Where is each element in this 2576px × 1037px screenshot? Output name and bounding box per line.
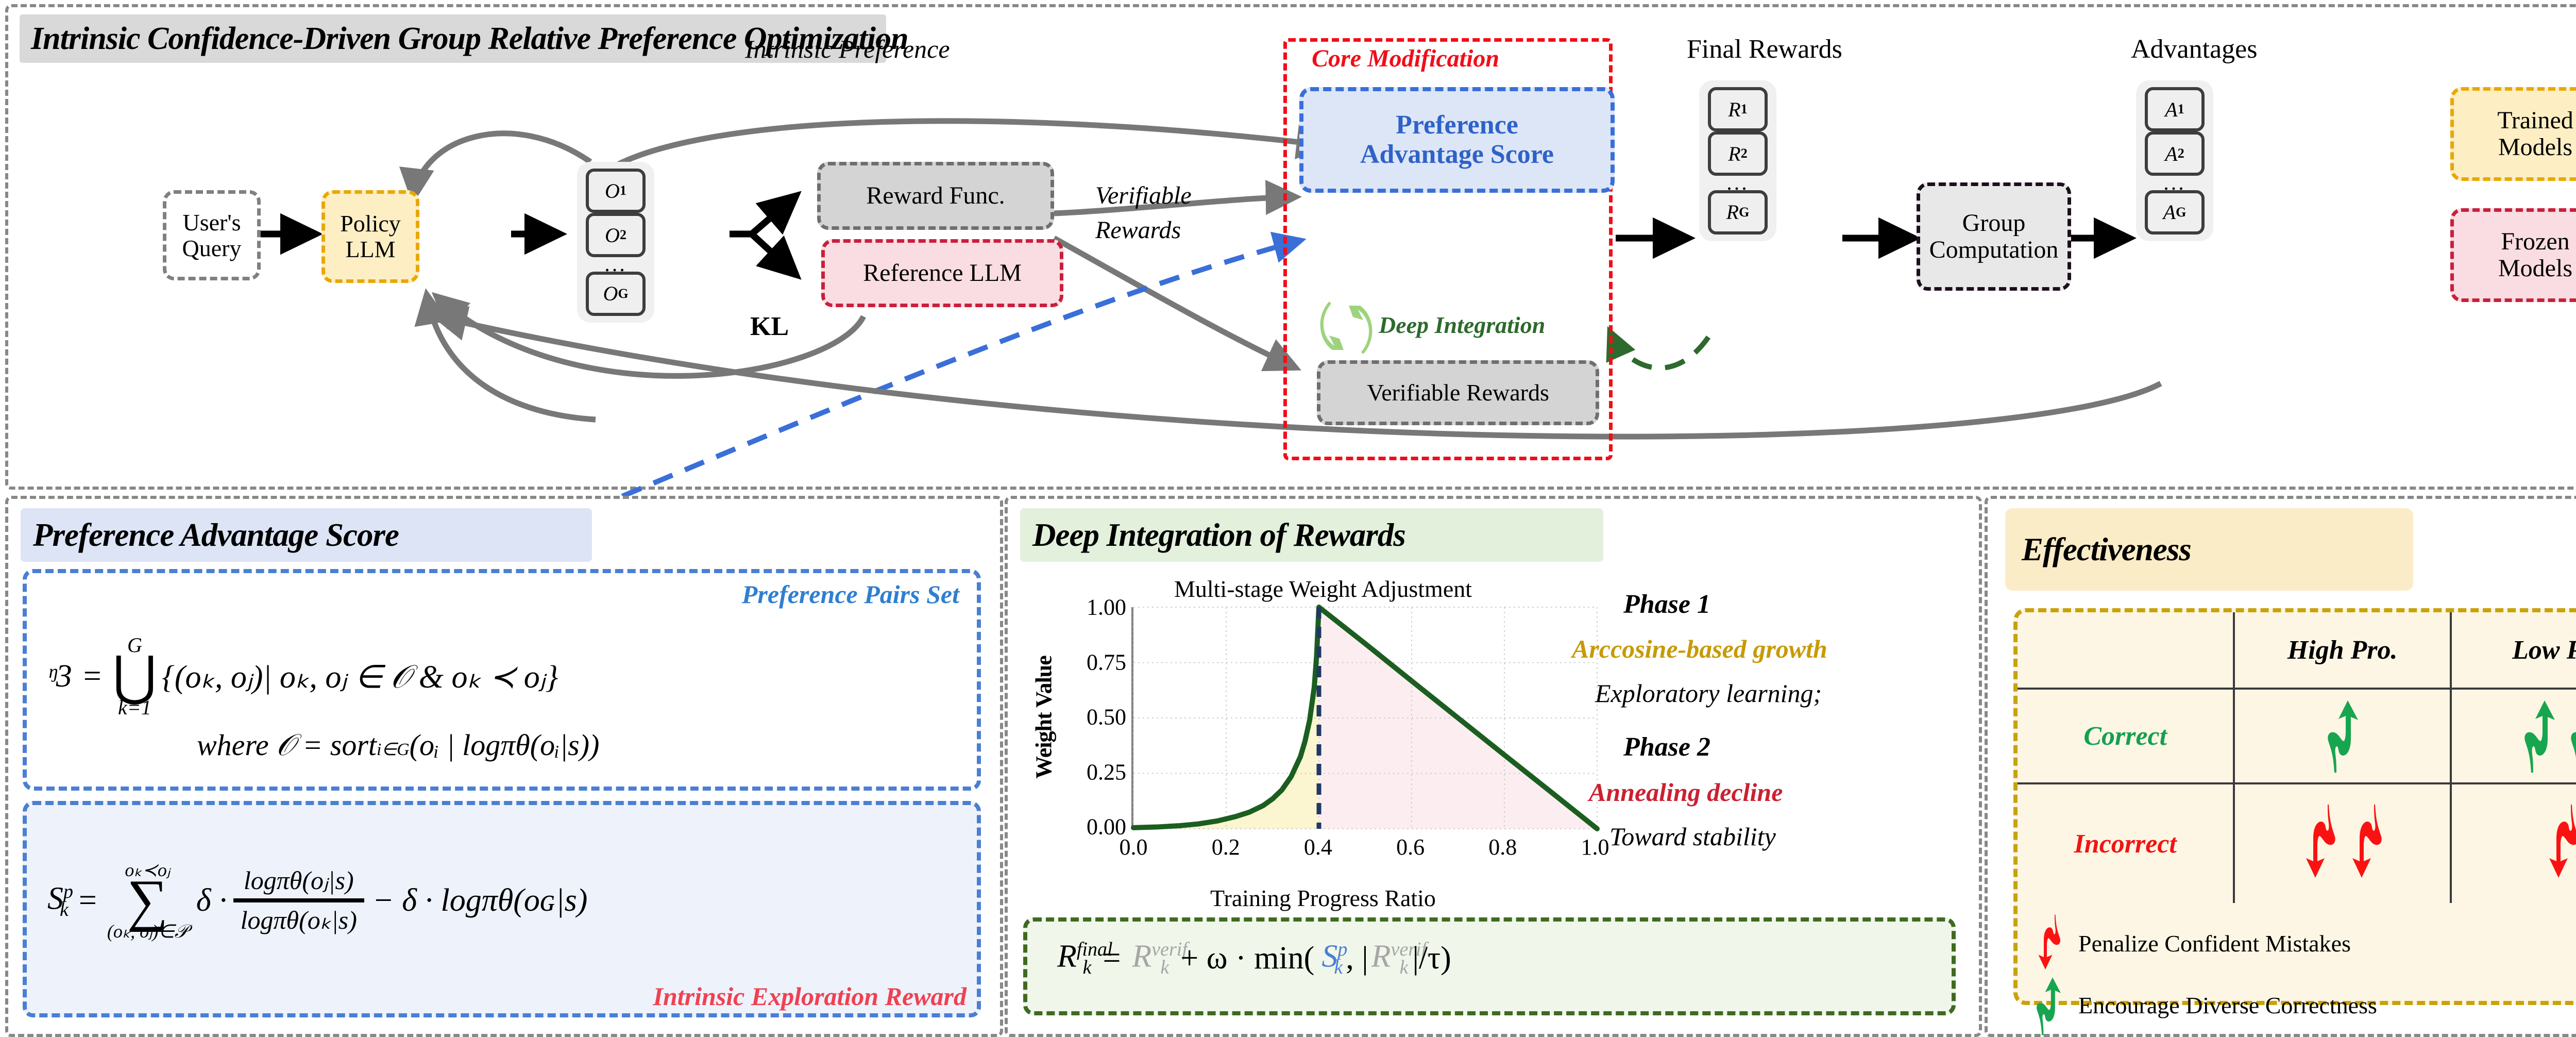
final-reward-equation: Rfinalk = Rverif.k + ω · min( Spk , | Rv… xyxy=(1057,938,1451,979)
chart-y-tick: 0.50 xyxy=(1087,704,1126,730)
kl-label: KL xyxy=(750,311,789,342)
output-index: G xyxy=(618,286,628,302)
deep-integration-label: Deep Integration xyxy=(1379,311,1545,339)
effectiveness-table: High Pro. Low Pro. Correct xyxy=(2018,612,2576,903)
advantage-index: G xyxy=(2176,205,2186,220)
table-row: Incorrect xyxy=(2018,783,2576,903)
pas-panel-title: Preference Advantage Score xyxy=(21,508,592,562)
chart-x-tick: 0.8 xyxy=(1488,834,1517,860)
reward-symbol: R xyxy=(1726,200,1739,224)
weight-adjustment-chart: Multi-stage Weight Adjustment Weight Val… xyxy=(1019,575,1601,905)
down-arrow-icon xyxy=(2344,801,2387,884)
recycle-icon xyxy=(1317,298,1379,358)
phase1-heading: Phase 1 xyxy=(1623,589,1710,620)
trained-models-line1: Trained xyxy=(2497,107,2573,134)
final-lhs: R xyxy=(1057,939,1077,974)
final-term2-sub: k xyxy=(1400,957,1409,978)
down-arrow-icon xyxy=(2541,801,2576,884)
legend-row-penalize: Penalize Confident Mistakes xyxy=(2018,912,2576,974)
chart-y-tick: 0.25 xyxy=(1087,759,1126,785)
where-subscript: i∈G xyxy=(377,739,410,760)
column-header-high-pro: High Pro. xyxy=(2234,612,2450,689)
reward-index: 2 xyxy=(1741,146,1748,161)
preference-pairs-equation: ᵑ3 = G ⋃ k=1 {(oₖ, oⱼ)| oₖ, oⱼ ∈ 𝒪 & oₖ … xyxy=(47,635,558,718)
output-cell-o1[interactable]: O1 xyxy=(586,169,646,213)
chart-y-axis-label: Weight Value xyxy=(1031,625,1057,810)
pas-line2: Advantage Score xyxy=(1360,140,1554,169)
reward-cell-rg[interactable]: RG xyxy=(1708,190,1768,235)
effectiveness-panel: Effectiveness High Pro. Low Pro. Correct xyxy=(1985,496,2576,1037)
score-numerator: logπθ(oⱼ|s) xyxy=(236,866,361,899)
verifiable-label-line1: Verifiable xyxy=(1095,181,1192,210)
down-arrow-icon xyxy=(2028,912,2069,974)
advantage-cell-ag[interactable]: AG xyxy=(2145,190,2205,235)
chart-svg xyxy=(1133,607,1597,829)
output-index: 2 xyxy=(620,227,626,243)
phase2-name: Annealing decline xyxy=(1589,777,1783,807)
final-rewards-label: Final Rewards xyxy=(1687,34,1842,64)
score-eq: = xyxy=(79,882,97,919)
preference-pairs-formula-box: Preference Pairs Set ᵑ3 = G ⋃ k=1 {(oₖ, … xyxy=(23,569,981,791)
trained-models-line2: Models xyxy=(2498,134,2572,161)
table-row: Correct xyxy=(2018,689,2576,783)
rewards-stack: R1 R2 ... RG xyxy=(1699,80,1776,241)
legend-row-encourage: Encourage Diverse Correctness xyxy=(2018,974,2576,1036)
reward-func-label: Reward Func. xyxy=(866,182,1005,209)
final-score-sub: k xyxy=(1334,957,1343,978)
preference-advantage-score-panel: Preference Advantage Score Preference Pa… xyxy=(5,496,1003,1037)
chart-y-tick: 1.00 xyxy=(1087,594,1126,621)
final-plus: + ω · min( xyxy=(1180,940,1314,977)
phase1-name: Arccosine-based growth xyxy=(1572,634,1827,664)
final-term1: R xyxy=(1132,939,1151,974)
advantage-index: 1 xyxy=(2178,102,2184,117)
table-header-row: High Pro. Low Pro. xyxy=(2018,612,2576,689)
rewards-ellipsis: ... xyxy=(1726,176,1749,190)
architecture-panel: Intrinsic Confidence-Driven Group Relati… xyxy=(5,4,2576,490)
core-modification-label: Core Modification xyxy=(1312,44,1499,73)
chart-x-tick: 0.0 xyxy=(1120,834,1148,860)
legend-trained-models: Trained Models xyxy=(2450,87,2576,181)
intrinsic-preference-label: Intrinsic Preference xyxy=(745,34,950,64)
group-computation-line1: Group xyxy=(1962,210,2026,237)
node-users-query[interactable]: User's Query xyxy=(163,190,261,280)
legend-penalize-text: Penalize Confident Mistakes xyxy=(2078,930,2351,957)
pairs-eq: = xyxy=(83,658,101,695)
phase2-heading: Phase 2 xyxy=(1623,732,1710,762)
score-lhs-sub: k xyxy=(60,899,69,921)
score-delta: δ · xyxy=(196,882,227,919)
advantage-cell-a1[interactable]: A1 xyxy=(2145,87,2205,131)
row-header-correct: Correct xyxy=(2018,689,2234,783)
node-preference-advantage-score[interactable]: Preference Advantage Score xyxy=(1299,87,1615,193)
node-group-computation[interactable]: Group Computation xyxy=(1917,182,2071,291)
group-computation-line2: Computation xyxy=(1929,237,2059,263)
reward-symbol: R xyxy=(1728,97,1740,122)
verifiable-label-line2: Rewards xyxy=(1095,216,1181,244)
chart-x-tick: 0.4 xyxy=(1304,834,1332,860)
table-corner-cell xyxy=(2018,612,2234,689)
where-head: where 𝒪 = sort xyxy=(197,728,377,763)
final-term1-sub: k xyxy=(1160,957,1169,978)
row-header-incorrect: Incorrect xyxy=(2018,783,2234,903)
advantage-symbol: A xyxy=(2165,97,2177,122)
chart-x-tick: 0.2 xyxy=(1212,834,1240,860)
preference-pairs-set-tag: Preference Pairs Set xyxy=(742,579,959,609)
reward-index: 1 xyxy=(1741,102,1748,117)
node-verifiable-rewards[interactable]: Verifiable Rewards xyxy=(1317,360,1599,425)
reference-llm-label: Reference LLM xyxy=(863,260,1022,287)
intrinsic-exploration-reward-tag: Intrinsic Exploration Reward xyxy=(653,981,967,1011)
final-lhs-sub: k xyxy=(1083,957,1092,978)
advantage-symbol: A xyxy=(2165,142,2177,166)
node-reward-func[interactable]: Reward Func. xyxy=(817,162,1054,230)
cell-correct-low xyxy=(2451,689,2576,783)
preference-score-formula-box: Intrinsic Exploration Reward Spk = oₖ≺oⱼ… xyxy=(23,801,981,1017)
cell-incorrect-high xyxy=(2234,783,2450,903)
advantages-label: Advantages xyxy=(2131,34,2257,64)
chart-y-tick: 0.75 xyxy=(1087,649,1126,675)
effectiveness-table-box: High Pro. Low Pro. Correct xyxy=(2013,608,2576,1005)
where-rest: (oᵢ | logπθ(oᵢ|s)) xyxy=(410,728,600,762)
verifiable-rewards-label: Verifiable Rewards xyxy=(1367,380,1549,406)
policy-llm-line2: LLM xyxy=(345,237,395,262)
chart-x-tick: 1.0 xyxy=(1581,834,1609,860)
output-cell-o2[interactable]: O2 xyxy=(586,213,646,257)
reward-index: G xyxy=(1739,205,1749,220)
legend-frozen-models: Frozen Models xyxy=(2450,208,2576,302)
node-policy-llm[interactable]: Policy LLM xyxy=(321,190,419,283)
advantage-index: 2 xyxy=(2178,146,2184,161)
score-denominator: logπθ(oₖ|s) xyxy=(233,902,364,935)
advantage-cell-a2[interactable]: A2 xyxy=(2145,131,2205,176)
reward-cell-r2[interactable]: R2 xyxy=(1708,131,1768,176)
preference-score-equation: Spk = oₖ≺oⱼ ∑ (oₖ, oⱼ)∈𝒫 δ · logπθ(oⱼ|s)… xyxy=(47,861,587,941)
chart-plot-area: 0.000.250.500.751.00 0.00.20.40.60.81.0 xyxy=(1131,607,1595,829)
frozen-models-line2: Models xyxy=(2498,255,2572,282)
up-arrow-icon xyxy=(2518,696,2561,774)
final-eq: = xyxy=(1103,940,1121,977)
up-arrow-icon xyxy=(2028,974,2069,1036)
users-query-line2: Query xyxy=(182,236,242,261)
output-symbol: O xyxy=(605,223,620,247)
cell-correct-high xyxy=(2234,689,2450,783)
union-lower-limit: k=1 xyxy=(118,697,151,718)
reward-cell-r1[interactable]: R1 xyxy=(1708,87,1768,131)
pairs-body: {(oₖ, oⱼ)| oₖ, oⱼ ∈ 𝒪 & oₖ ≺ oⱼ} xyxy=(162,658,558,696)
pairs-lhs: ᵑ3 xyxy=(47,658,72,695)
chart-x-tick: 0.6 xyxy=(1396,834,1425,860)
advantages-stack: A1 A2 ... AG xyxy=(2136,80,2213,241)
users-query-line1: User's xyxy=(182,210,241,236)
column-header-low-pro: Low Pro. xyxy=(2451,612,2576,689)
score-minus-term: − δ · logπθ(oɢ|s) xyxy=(372,882,588,919)
up-arrow-icon xyxy=(2321,696,2364,774)
reward-symbol: R xyxy=(1728,142,1740,166)
up-arrow-icon xyxy=(2564,696,2576,774)
integration-panel-title: Deep Integration of Rewards xyxy=(1020,508,1603,562)
cell-incorrect-low xyxy=(2451,783,2576,903)
final-comma: , | xyxy=(1346,940,1368,977)
phase1-description: Exploratory learning; xyxy=(1595,678,1822,708)
final-tail: |/τ) xyxy=(1413,940,1451,977)
sum-lower-limit: (oₖ, oⱼ)∈𝒫 xyxy=(107,922,188,941)
phase2-description: Toward stability xyxy=(1609,822,1776,851)
output-symbol: O xyxy=(605,179,620,203)
chart-x-axis-label: Training Progress Ratio xyxy=(1091,884,1555,912)
output-symbol: O xyxy=(603,281,618,306)
final-term2: R xyxy=(1371,939,1391,974)
effectiveness-panel-title: Effectiveness xyxy=(2005,508,2413,591)
deep-integration-panel: Deep Integration of Rewards Multi-stage … xyxy=(1005,496,1982,1037)
legend-encourage-text: Encourage Diverse Correctness xyxy=(2078,992,2377,1019)
outputs-ellipsis: ... xyxy=(604,257,627,271)
pas-line1: Preference xyxy=(1396,111,1518,140)
advantages-ellipsis: ... xyxy=(2163,176,2186,190)
output-cell-og[interactable]: OG xyxy=(586,272,646,316)
chart-title: Multi-stage Weight Adjustment xyxy=(1091,575,1555,603)
down-arrow-icon xyxy=(2298,801,2341,884)
preference-pairs-where: where 𝒪 = sort i∈G (oᵢ | logπθ(oᵢ|s)) xyxy=(197,728,599,763)
frozen-models-line1: Frozen xyxy=(2501,228,2569,255)
output-index: 1 xyxy=(620,183,626,198)
node-reference-llm[interactable]: Reference LLM xyxy=(821,239,1063,307)
policy-llm-line1: Policy xyxy=(340,211,401,237)
final-reward-formula-box: Rfinalk = Rverif.k + ω · min( Spk , | Rv… xyxy=(1023,917,1956,1015)
outputs-stack: O1 O2 ... OG xyxy=(577,162,654,323)
advantage-symbol: A xyxy=(2163,200,2176,224)
